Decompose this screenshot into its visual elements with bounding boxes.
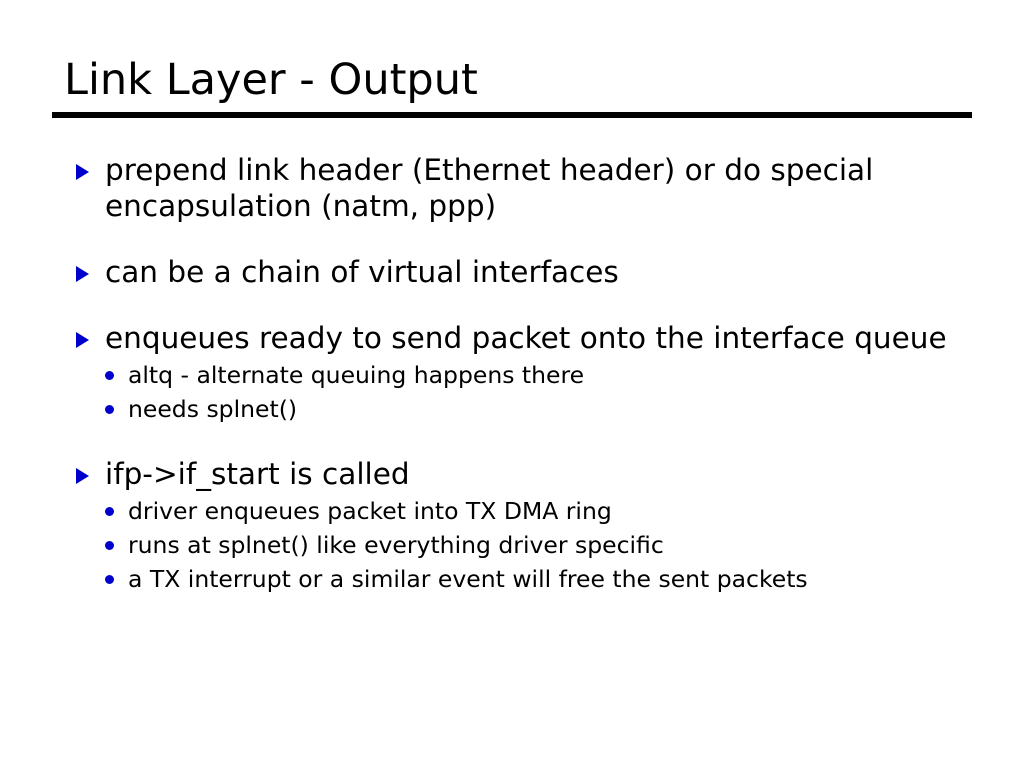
bullet-group: ifp->if_start is called driver enqueues … [0, 456, 1024, 596]
sub-bullet-item-label: runs at splnet() like everything driver … [128, 531, 664, 559]
bullet-group: can be a chain of virtual interfaces [0, 254, 1024, 290]
sub-bullet-item-label: a TX interrupt or a similar event will f… [128, 565, 808, 593]
bullet-item: prepend link header (Ethernet header) or… [0, 152, 1024, 224]
page-title: Link Layer - Output [64, 54, 478, 106]
sub-bullet-item-label: altq - alternate queuing happens there [128, 361, 584, 389]
bullet-group: enqueues ready to send packet onto the i… [0, 320, 1024, 426]
dot-icon [105, 405, 114, 414]
bullet-item-label: ifp->if_start is called [105, 456, 964, 492]
sub-bullet-item: needs splnet() [0, 392, 1024, 426]
dot-icon [105, 371, 114, 380]
bullet-item-label: prepend link header (Ethernet header) or… [105, 152, 964, 224]
bullet-item: enqueues ready to send packet onto the i… [0, 320, 1024, 356]
sub-bullet-list: altq - alternate queuing happens there n… [0, 358, 1024, 426]
presentation-slide: Link Layer - Output prepend link header … [0, 0, 1024, 768]
dot-icon [105, 541, 114, 550]
sub-bullet-list: driver enqueues packet into TX DMA ring … [0, 494, 1024, 596]
bullet-item: can be a chain of virtual interfaces [0, 254, 1024, 290]
sub-bullet-item: altq - alternate queuing happens there [0, 358, 1024, 392]
sub-bullet-item-label: driver enqueues packet into TX DMA ring [128, 497, 612, 525]
triangle-right-icon [76, 468, 89, 484]
sub-bullet-item-label: needs splnet() [128, 395, 297, 423]
bullet-item: ifp->if_start is called [0, 456, 1024, 492]
bullet-group: prepend link header (Ethernet header) or… [0, 152, 1024, 224]
title-divider [52, 112, 972, 118]
dot-icon [105, 507, 114, 516]
triangle-right-icon [76, 164, 89, 180]
bullet-item-label: enqueues ready to send packet onto the i… [105, 320, 964, 356]
dot-icon [105, 575, 114, 584]
triangle-right-icon [76, 266, 89, 282]
bullet-item-label: can be a chain of virtual interfaces [105, 254, 964, 290]
triangle-right-icon [76, 332, 89, 348]
slide-body: prepend link header (Ethernet header) or… [0, 152, 1024, 596]
sub-bullet-item: runs at splnet() like everything driver … [0, 528, 1024, 562]
sub-bullet-item: a TX interrupt or a similar event will f… [0, 562, 1024, 596]
sub-bullet-item: driver enqueues packet into TX DMA ring [0, 494, 1024, 528]
